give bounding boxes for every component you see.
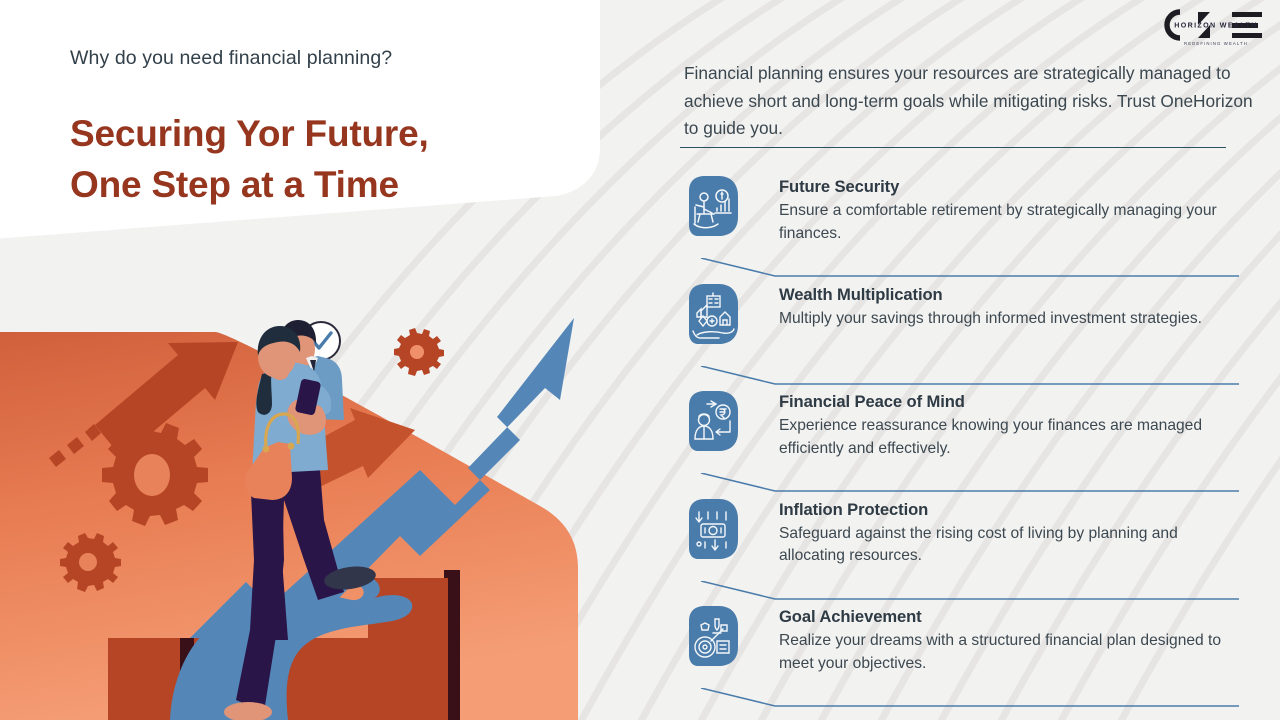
intro-paragraph: Financial planning ensures your resource… (684, 60, 1264, 143)
list-item-title: Inflation Protection (779, 500, 1229, 520)
list-item-title: Financial Peace of Mind (779, 392, 1229, 412)
list-item-description: Safeguard against the rising cost of liv… (779, 523, 1229, 568)
page-title: Securing Yor Future, One Step at a Time (70, 108, 550, 210)
headline-line-2: One Step at a Time (70, 159, 550, 210)
list-item-body: Future Security Ensure a comfortable ret… (779, 177, 1229, 245)
list-item-divider (679, 581, 1239, 603)
gear-small (394, 328, 444, 376)
list-item-body: Goal Achievement Realize your dreams wit… (779, 607, 1229, 675)
list-item-body: Financial Peace of Mind Experience reass… (779, 392, 1229, 460)
hand-holding-assets-icon (683, 283, 741, 355)
list-item-description: Multiply your savings through informed i… (779, 308, 1229, 331)
benefits-list: Future Security Ensure a comfortable ret… (679, 172, 1239, 710)
list-item[interactable]: Future Security Ensure a comfortable ret… (679, 172, 1239, 280)
advisor-rupee-icon (683, 390, 741, 462)
list-item-divider (679, 258, 1239, 280)
list-item[interactable]: Wealth Multiplication Multiply your savi… (679, 280, 1239, 388)
list-item-description: Realize your dreams with a structured fi… (779, 630, 1229, 675)
intro-divider (680, 147, 1226, 148)
logo-tagline: REDEFINING WEALTH (1184, 41, 1248, 46)
benefits-panel: Financial planning ensures your resource… (679, 0, 1239, 720)
section-kicker: Why do you need financial planning? (70, 47, 540, 70)
list-item[interactable]: Inflation Protection Safeguard against t… (679, 495, 1239, 603)
list-item-body: Inflation Protection Safeguard against t… (779, 500, 1229, 568)
list-item-title: Goal Achievement (779, 607, 1229, 627)
retirement-rocking-chair-icon (683, 175, 741, 247)
list-item-divider (679, 688, 1239, 710)
list-item[interactable]: Goal Achievement Realize your dreams wit… (679, 602, 1239, 710)
brand-logo[interactable]: HORIZON WEALTH REDEFINING WEALTH (1160, 4, 1272, 48)
list-item-description: Ensure a comfortable retirement by strat… (779, 200, 1229, 245)
headline-line-1: Securing Yor Future, (70, 108, 550, 159)
list-item-divider (679, 473, 1239, 495)
list-item-title: Wealth Multiplication (779, 285, 1229, 305)
list-item[interactable]: Financial Peace of Mind Experience reass… (679, 387, 1239, 495)
list-item-title: Future Security (779, 177, 1229, 197)
list-item-divider (679, 366, 1239, 388)
banknote-arrows-icon (683, 498, 741, 570)
list-item-description: Experience reassurance knowing your fina… (779, 415, 1229, 460)
logo-wordmark: HORIZON WEALTH (1174, 22, 1257, 30)
list-item-body: Wealth Multiplication Multiply your savi… (779, 285, 1229, 331)
target-trophy-icon (683, 605, 741, 677)
